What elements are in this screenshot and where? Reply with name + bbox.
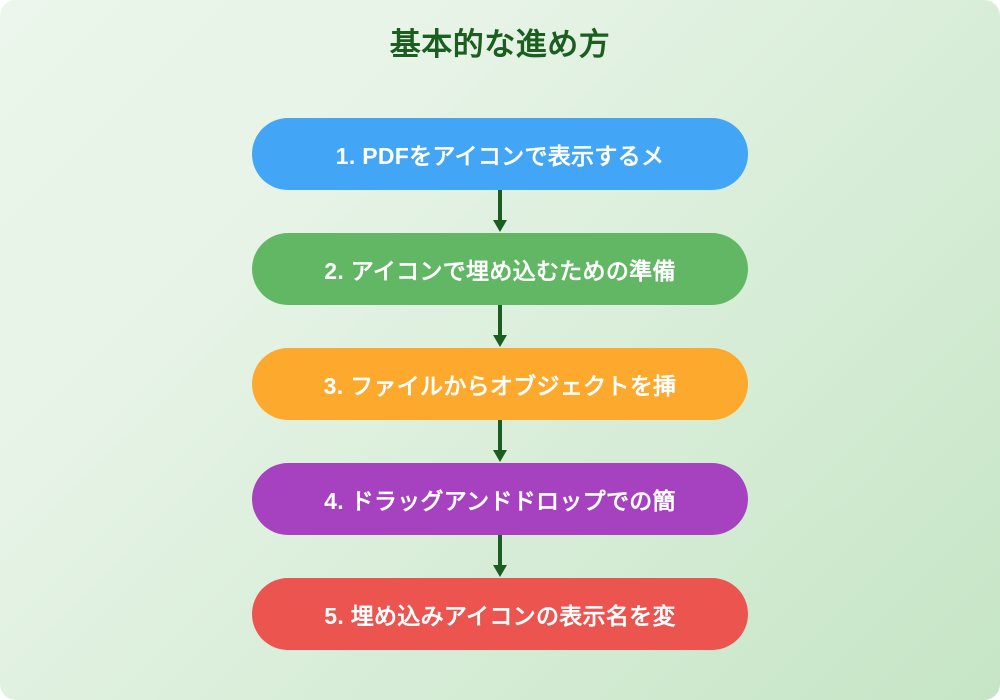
flow-node-step-5[interactable]: 5. 埋め込みアイコンの表示名を変 bbox=[252, 578, 748, 650]
arrow-down-icon bbox=[490, 190, 510, 233]
flow-node-step-1[interactable]: 1. PDFをアイコンで表示するメ bbox=[252, 118, 748, 190]
arrow-down-icon bbox=[490, 420, 510, 463]
flow-node-label: 2. アイコンで埋め込むための準備 bbox=[324, 252, 676, 286]
diagram-canvas: 基本的な進め方 1. PDFをアイコンで表示するメ2. アイコンで埋め込むための… bbox=[0, 0, 1000, 700]
flow-arrow-2-to-3 bbox=[252, 305, 748, 348]
flowchart-container: 1. PDFをアイコンで表示するメ2. アイコンで埋め込むための準備3. ファイ… bbox=[252, 118, 748, 650]
flow-node-label: 1. PDFをアイコンで表示するメ bbox=[336, 137, 665, 171]
flow-arrow-4-to-5 bbox=[252, 535, 748, 578]
flow-arrow-3-to-4 bbox=[252, 420, 748, 463]
flow-node-label: 3. ファイルからオブジェクトを挿 bbox=[324, 367, 677, 401]
flow-node-step-4[interactable]: 4. ドラッグアンドドロップでの簡 bbox=[252, 463, 748, 535]
flow-node-step-2[interactable]: 2. アイコンで埋め込むための準備 bbox=[252, 233, 748, 305]
flow-arrow-1-to-2 bbox=[252, 190, 748, 233]
arrow-down-icon bbox=[490, 535, 510, 578]
flow-node-step-3[interactable]: 3. ファイルからオブジェクトを挿 bbox=[252, 348, 748, 420]
arrow-down-icon bbox=[490, 305, 510, 348]
flow-node-label: 4. ドラッグアンドドロップでの簡 bbox=[324, 482, 676, 516]
page-title: 基本的な進め方 bbox=[0, 26, 1000, 63]
flow-node-label: 5. 埋め込みアイコンの表示名を変 bbox=[324, 597, 676, 631]
